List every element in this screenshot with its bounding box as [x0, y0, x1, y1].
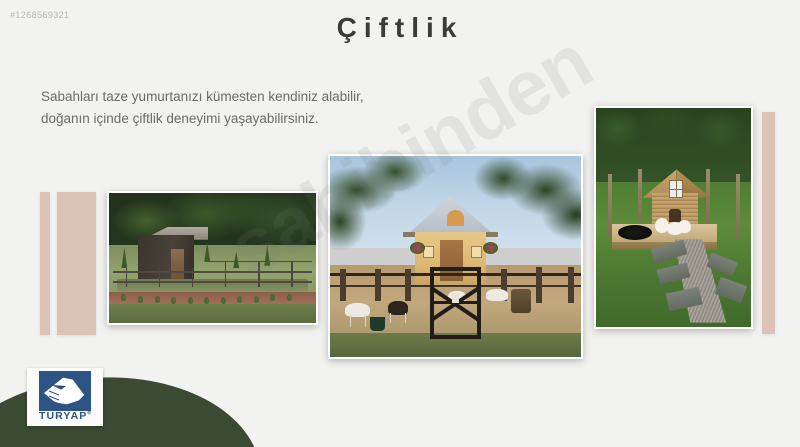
duck-house-scene	[596, 108, 751, 327]
white-goat	[345, 303, 370, 317]
feed-bucket	[370, 317, 385, 331]
description-line-2: doğanın içinde çiftlik deneyimi yaşayabi…	[41, 108, 471, 130]
foreground-grass	[109, 304, 316, 324]
tree-stump	[511, 289, 531, 313]
shrub-icon	[188, 297, 193, 304]
fence-post	[706, 169, 710, 226]
goat-leg	[405, 313, 406, 323]
fence-post	[736, 174, 740, 240]
farm-gate	[430, 267, 480, 339]
shrub-icon	[204, 297, 209, 304]
fence-post	[192, 268, 194, 286]
fence-post	[291, 261, 293, 287]
duck-house-photo	[594, 106, 753, 329]
fence-rail	[113, 271, 312, 273]
shrub-icon	[237, 296, 242, 303]
fence-post	[375, 269, 381, 301]
fence-post	[638, 169, 642, 222]
shrub-icon	[171, 297, 176, 304]
registered-mark: ®	[87, 411, 91, 417]
turyap-wordmark: TURYAP®	[27, 410, 103, 422]
shrub-icon	[155, 296, 160, 303]
fence-rail	[113, 281, 312, 283]
fence-post	[340, 269, 346, 301]
white-goat	[486, 289, 509, 301]
duck-house-window	[669, 180, 683, 198]
gable-vent	[447, 210, 465, 226]
fence-rail	[208, 261, 312, 263]
description-line-1: Sabahları taze yumurtanızı kümesten kend…	[41, 86, 471, 108]
fence-post	[159, 268, 161, 286]
goat-leg	[350, 315, 351, 327]
presentation-slide: #1268569321 Çiftlik Sabahları taze yumur…	[0, 0, 800, 447]
lit-barn-photo	[328, 154, 583, 359]
fence-post	[405, 269, 411, 301]
shrub-icon	[287, 294, 292, 301]
goat-leg	[365, 315, 366, 327]
duck-entrance-hole	[669, 209, 681, 222]
garden-shed-photo	[107, 191, 318, 325]
handshake-icon	[39, 371, 91, 411]
page-title: Çiftlik	[0, 12, 800, 44]
fence-post	[536, 267, 542, 303]
shed-door	[171, 249, 183, 279]
shrub-icon	[138, 296, 143, 303]
shrub-icon	[254, 296, 259, 303]
shrub-icon	[221, 297, 226, 304]
lit-barn-scene	[330, 156, 581, 357]
gate-emblem	[452, 293, 459, 303]
fence-post	[126, 268, 128, 286]
decor-bar-left-wide	[57, 192, 96, 335]
fence-post	[258, 261, 260, 287]
fence-post	[568, 267, 574, 303]
window-mullion	[670, 189, 682, 190]
decor-bar-left-thin	[40, 192, 50, 335]
fence-post	[225, 261, 227, 287]
turyap-logo[interactable]: TURYAP®	[27, 368, 103, 426]
description-text: Sabahları taze yumurtanızı kümesten kend…	[41, 86, 471, 130]
duck-icon	[678, 220, 690, 233]
garden-shed-scene	[109, 193, 316, 323]
turyap-brand-text: TURYAP	[39, 410, 87, 422]
goat-leg	[390, 313, 391, 323]
barn-window	[471, 246, 482, 258]
decor-bar-right-thin	[762, 112, 775, 334]
